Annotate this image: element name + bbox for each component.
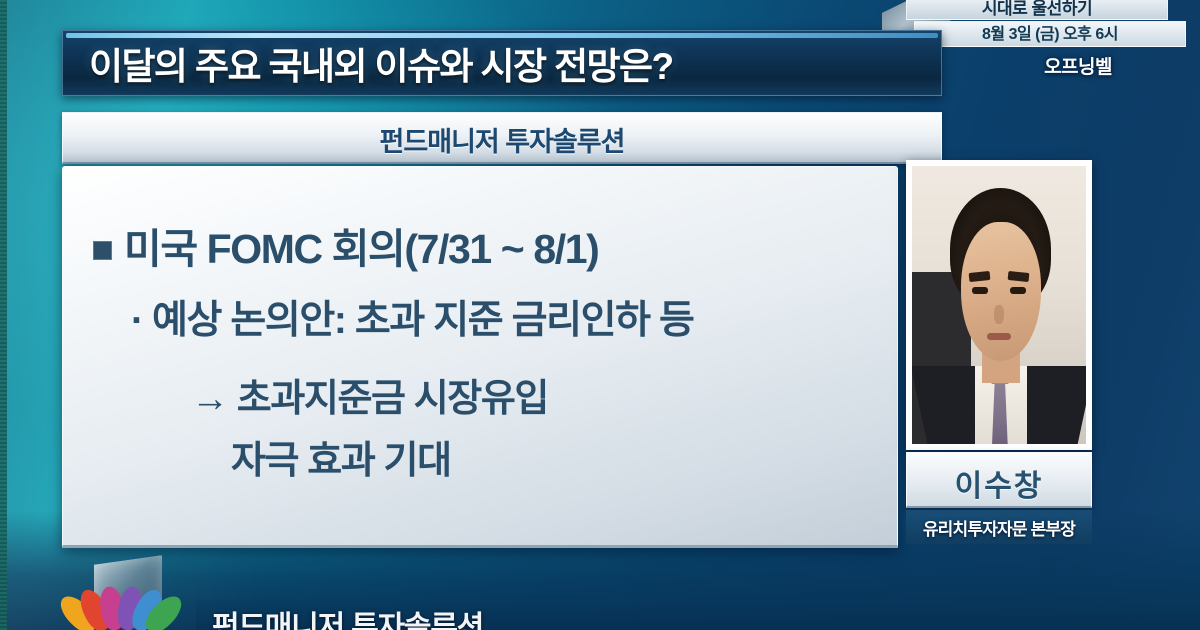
photo-eyebrow-left — [969, 271, 991, 282]
left-edge-strip — [0, 0, 7, 630]
guest-photo-frame — [906, 160, 1092, 450]
content-line-1: 미국 FOMC 회의(7/31 ~ 8/1) — [93, 215, 598, 275]
photo-mouth — [987, 333, 1011, 340]
guest-name: 이수창 — [907, 461, 1091, 505]
photo-eye-left — [972, 287, 988, 294]
content-line-2: · 예상 논의안: 초과 지준 금리인하 등 — [131, 289, 694, 345]
guest-title-bar: 유리치투자자문 본부장 — [906, 510, 1092, 544]
bottom-ticker-text: 펀드매니저 투자솔루션 — [212, 602, 483, 630]
content-line-3: → 초과지준금 시장유입 — [191, 367, 548, 422]
subtitle-text: 펀드매니저 투자솔루션 — [63, 120, 941, 159]
promo-program-name: 오프닝벨 — [1044, 52, 1112, 79]
headline-bar: 이달의 주요 국내외 이슈와 시장 전망은? — [62, 30, 942, 96]
bottom-ticker-bar: 펀드매니저 투자솔루션 — [196, 600, 1200, 630]
content-lines: 미국 FOMC 회의(7/31 ~ 8/1) · 예상 논의안: 초과 지준 금… — [63, 167, 897, 545]
guest-card: 이수창 유리치투자자문 본부장 — [906, 160, 1092, 544]
channel-logo — [80, 558, 184, 630]
content-line-4: 자극 효과 기대 — [231, 429, 451, 484]
square-bullet-icon — [93, 241, 112, 260]
content-line-1-text: 미국 FOMC 회의(7/31 ~ 8/1) — [124, 226, 598, 272]
subtitle-bar: 펀드매니저 투자솔루션 — [62, 112, 942, 164]
guest-name-plate: 이수창 — [906, 452, 1092, 508]
promo-line-1: 시대로 울선하기 — [906, 0, 1168, 20]
photo-eye-right — [1010, 287, 1026, 294]
guest-portrait-photo — [912, 166, 1086, 444]
headline-accent-line — [66, 33, 938, 38]
content-panel: 미국 FOMC 회의(7/31 ~ 8/1) · 예상 논의안: 초과 지준 금… — [62, 166, 898, 548]
guest-title: 유리치투자자문 본부장 — [906, 515, 1092, 540]
promo-airtime: 8월 3일 (금) 오후 6시 — [914, 21, 1186, 47]
photo-eyebrow-right — [1007, 271, 1029, 282]
headline-title: 이달의 주요 국내외 이슈와 시장 전망은? — [89, 40, 927, 94]
photo-nose — [994, 305, 1004, 324]
